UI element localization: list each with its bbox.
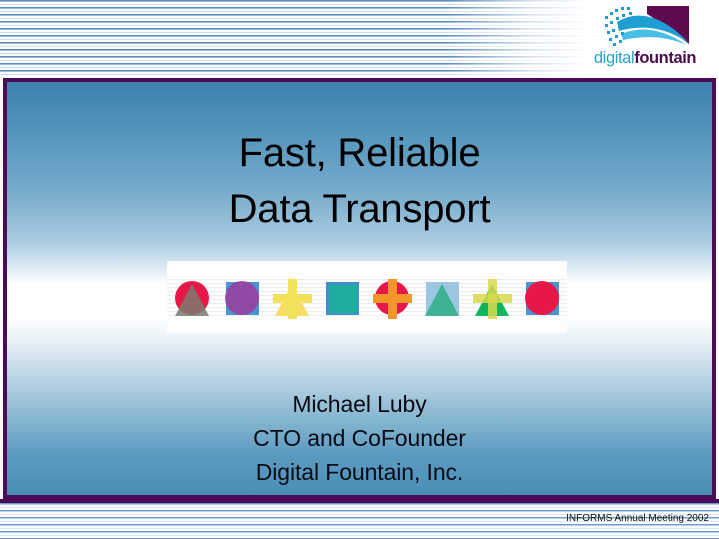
triangle-shape [175,284,209,316]
cross-shape-horizontal [473,294,512,303]
cross-shape-horizontal [373,294,412,303]
shapes-row [167,275,567,323]
title-line-1: Fast, Reliable [7,125,712,181]
author-name: Michael Luby [7,387,712,421]
slide-gradient-background: Fast, Reliable Data Transport [7,82,712,495]
shape-circle-triangle-1 [171,277,213,321]
slide-title: Fast, Reliable Data Transport [7,125,712,237]
shape-square-circle-2 [521,277,563,321]
footer-event-label: INFORMS Annual Meeting 2002 [566,513,709,525]
slide-content-panel: Fast, Reliable Data Transport [3,78,716,499]
logo-word-fountain: fountain [634,49,696,67]
shape-square-triangle-1 [421,277,463,321]
fountain-swoosh-icon [603,4,695,48]
shapes-picture-strip [167,261,567,333]
shape-square-square-1 [321,277,363,321]
shape-square-circle-1 [221,277,263,321]
circle-shape [225,281,259,315]
title-line-2: Data Transport [7,181,712,237]
shape-triangle-cross-2 [471,277,513,321]
presentation-slide: digitalfountain Fast, Reliable Data Tran… [0,0,719,539]
author-title: CTO and CoFounder [7,421,712,455]
circle-shape [525,281,559,315]
logo-word-digital: digital [594,49,634,67]
digital-fountain-logo: digitalfountain [583,4,707,70]
shape-circle-cross-1 [371,277,413,321]
logo-wordmark: digitalfountain [583,48,707,68]
author-company: Digital Fountain, Inc. [7,455,712,489]
shape-triangle-cross-1 [271,277,313,321]
triangle-shape [425,284,459,316]
square-shape-front [329,285,357,313]
author-block: Michael Luby CTO and CoFounder Digital F… [7,387,712,489]
cross-shape-horizontal [273,294,312,303]
